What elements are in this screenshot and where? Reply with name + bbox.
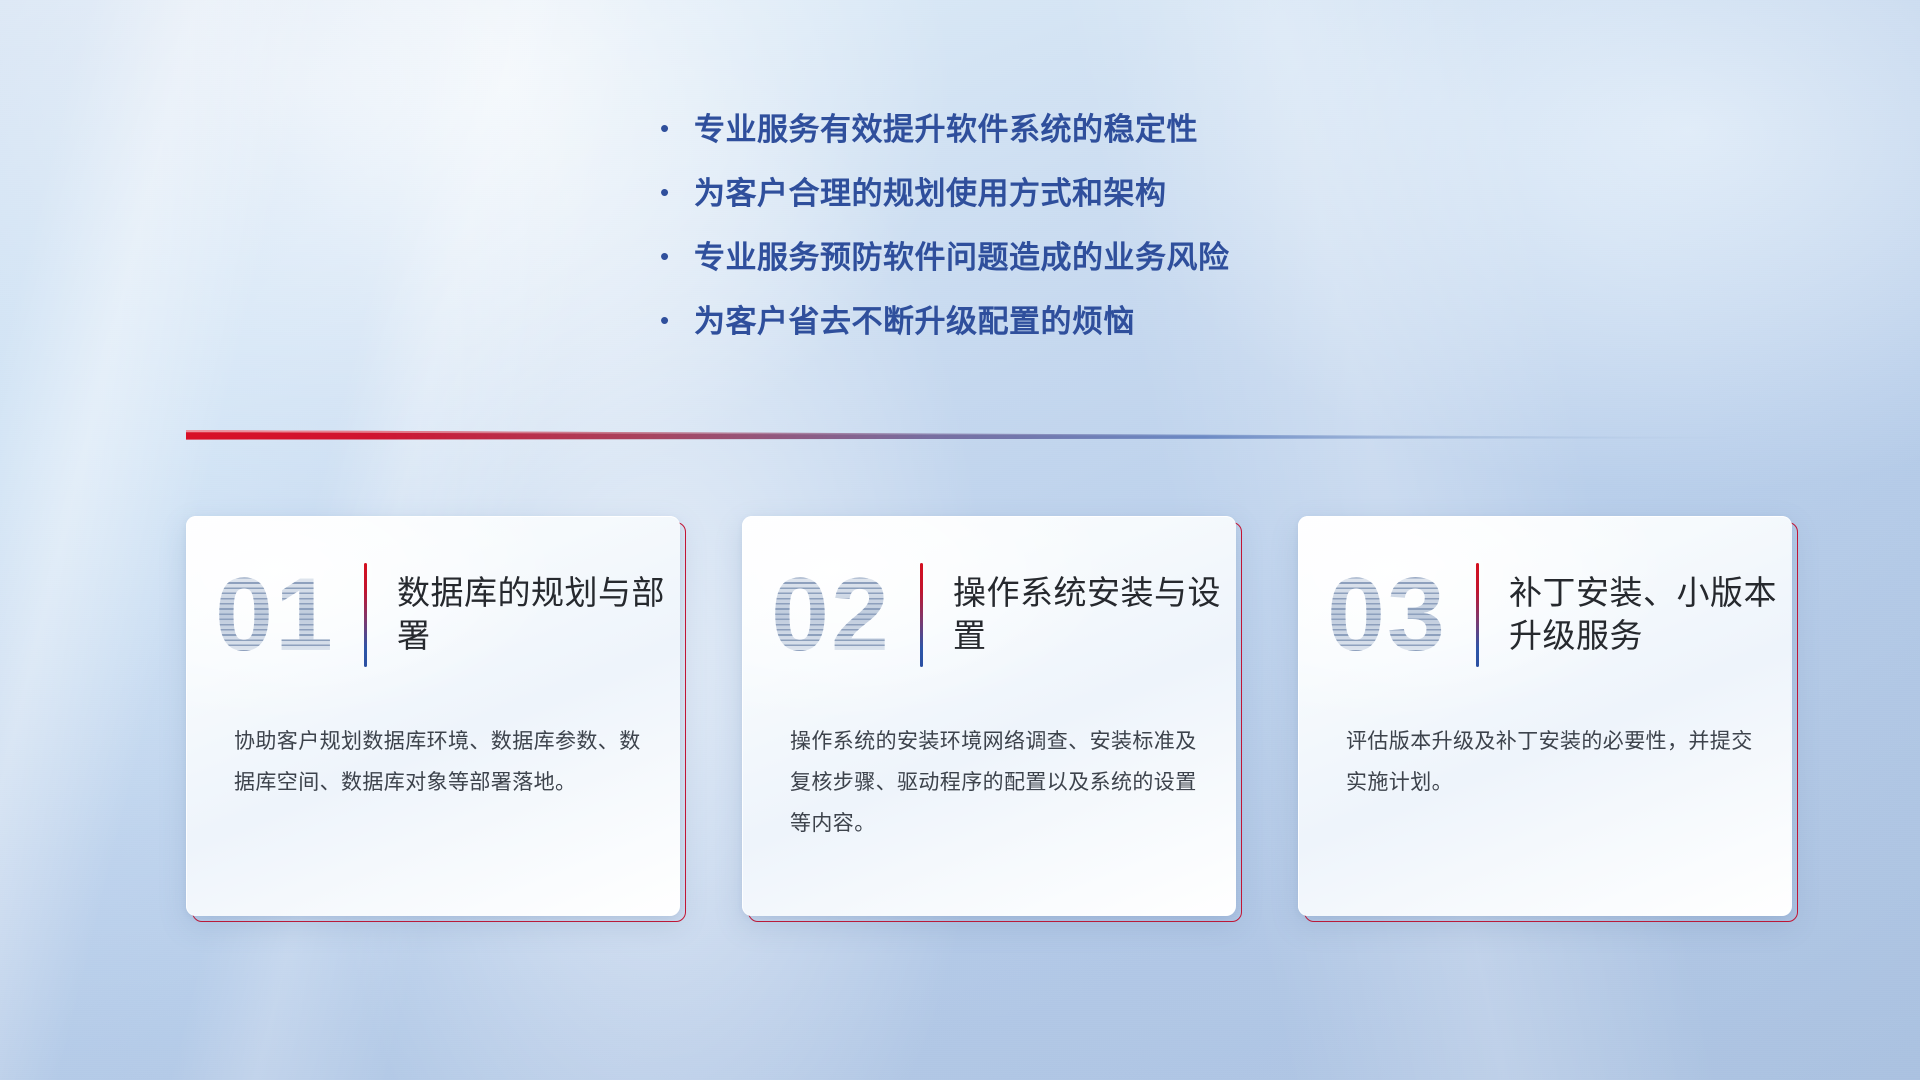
list-item: 为客户合理的规划使用方式和架构 (660, 168, 1480, 232)
service-card[interactable]: 02 操作系统安装与设置 操作系统的安装环境网络调查、安装标准及复核步骤、驱动程… (742, 516, 1236, 916)
card-title: 数据库的规划与部署 (367, 572, 680, 658)
card-number-wrap: 02 (742, 542, 920, 688)
bullet-point-icon (660, 179, 694, 205)
card-number-wrap: 01 (186, 542, 364, 688)
card-header: 02 操作系统安装与设置 (742, 542, 1236, 688)
service-card[interactable]: 01 数据库的规划与部署 协助客户规划数据库环境、数据库参数、数据库空间、数据库… (186, 516, 680, 916)
card-header: 01 数据库的规划与部署 (186, 542, 680, 688)
card-description: 评估版本升级及补丁安装的必要性，并提交实施计划。 (1346, 722, 1756, 804)
section-divider (186, 428, 1726, 444)
card-header: 03 补丁安装、小版本升级服务 (1298, 542, 1792, 688)
card-title: 操作系统安装与设置 (923, 572, 1236, 658)
list-item: 专业服务有效提升软件系统的稳定性 (660, 104, 1480, 168)
bullet-item-label: 为客户合理的规划使用方式和架构 (694, 168, 1167, 213)
gradient-wedge-icon (186, 428, 1726, 444)
card-description: 操作系统的安装环境网络调查、安装标准及复核步骤、驱动程序的配置以及系统的设置等内… (790, 722, 1200, 845)
service-card[interactable]: 03 补丁安装、小版本升级服务 评估版本升级及补丁安装的必要性，并提交实施计划。 (1298, 516, 1792, 916)
card-number: 02 (771, 563, 891, 667)
bullet-item-label: 专业服务预防软件问题造成的业务风险 (694, 232, 1230, 277)
bullet-point-icon (660, 243, 694, 269)
bullet-item-label: 专业服务有效提升软件系统的稳定性 (694, 104, 1198, 149)
list-item: 专业服务预防软件问题造成的业务风险 (660, 232, 1480, 296)
service-cards-row: 01 数据库的规划与部署 协助客户规划数据库环境、数据库参数、数据库空间、数据库… (186, 516, 1792, 916)
card-description: 协助客户规划数据库环境、数据库参数、数据库空间、数据库对象等部署落地。 (234, 722, 644, 804)
slide-canvas: 专业服务有效提升软件系统的稳定性 为客户合理的规划使用方式和架构 专业服务预防软… (0, 0, 1920, 1080)
card-title: 补丁安装、小版本升级服务 (1479, 572, 1792, 658)
card-number-wrap: 03 (1298, 542, 1476, 688)
card-number: 01 (215, 563, 335, 667)
card-number: 03 (1327, 563, 1447, 667)
bullet-point-icon (660, 307, 694, 333)
list-item: 为客户省去不断升级配置的烦恼 (660, 296, 1480, 360)
bullet-point-icon (660, 115, 694, 141)
bullet-item-label: 为客户省去不断升级配置的烦恼 (694, 296, 1135, 341)
benefits-bullet-list: 专业服务有效提升软件系统的稳定性 为客户合理的规划使用方式和架构 专业服务预防软… (660, 104, 1480, 360)
